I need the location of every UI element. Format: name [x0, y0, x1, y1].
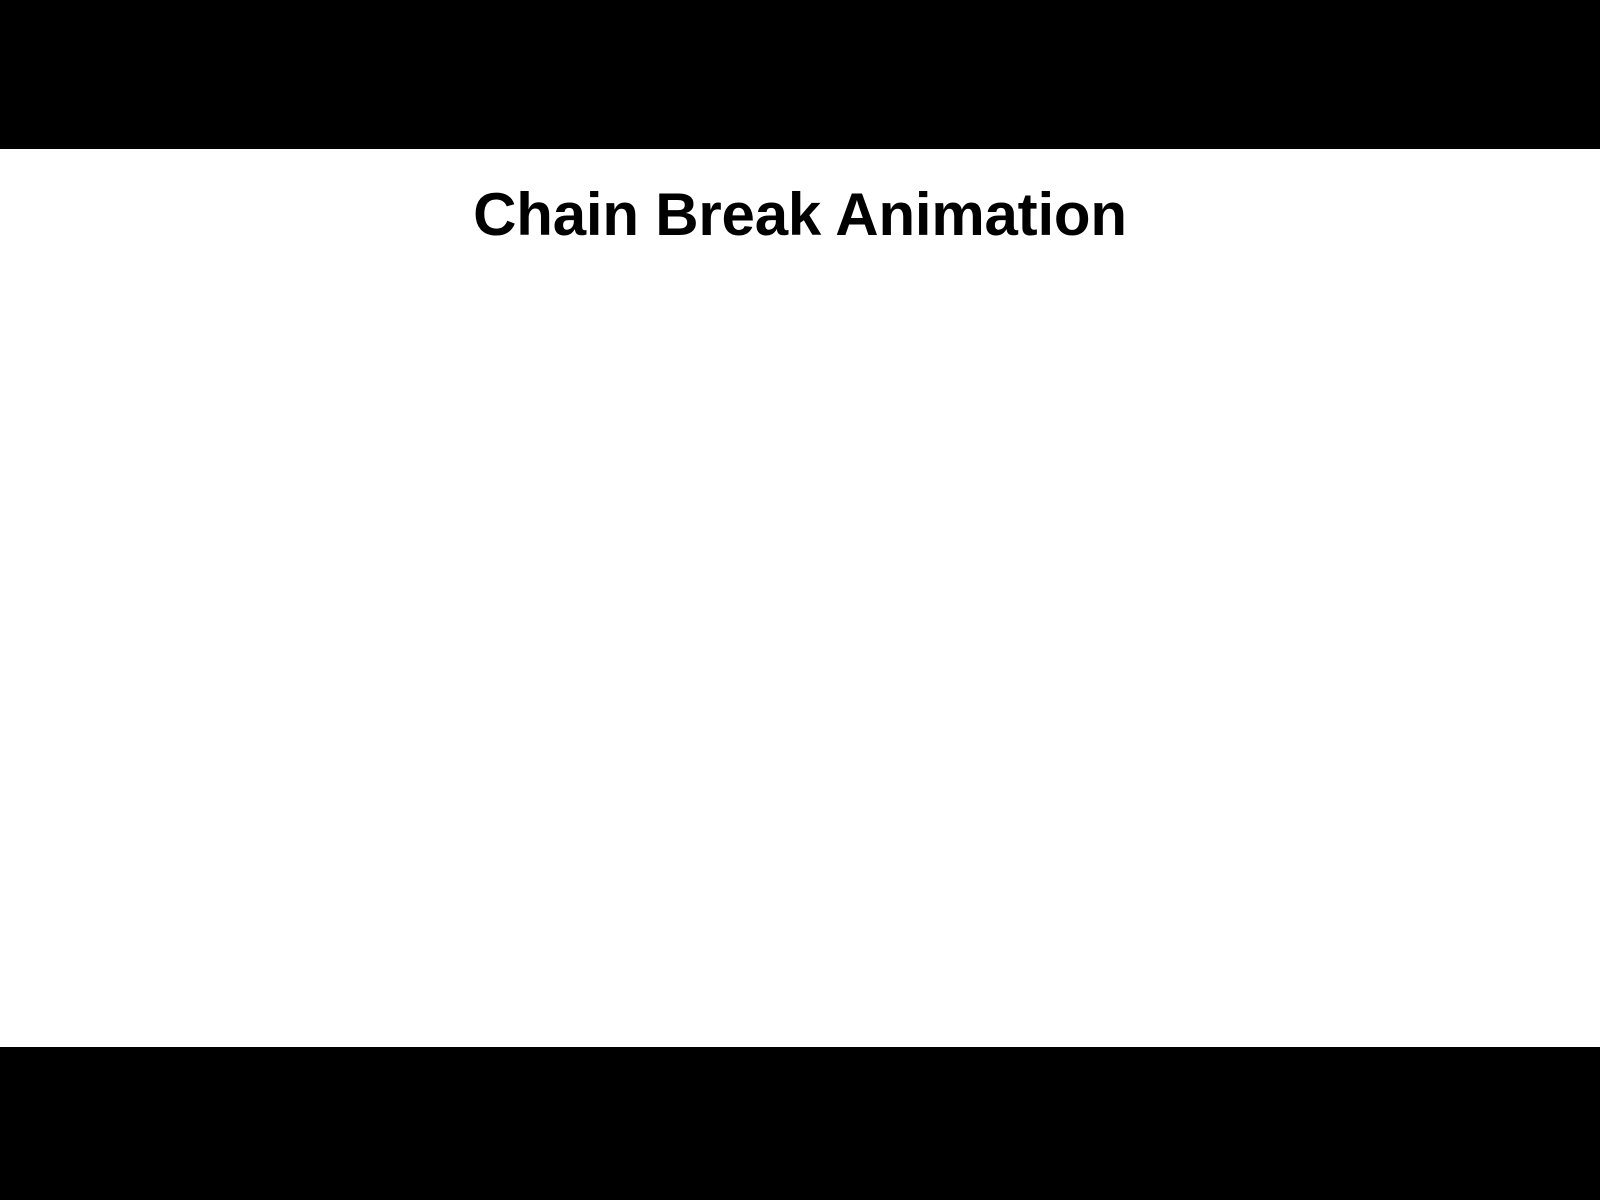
- slide-viewport: Chain Break Animation: [0, 0, 1600, 1200]
- letterbox-bottom-bar: [0, 1047, 1600, 1200]
- page-title: Chain Break Animation: [473, 183, 1127, 248]
- slide-content-placeholder[interactable]: [120, 299, 1480, 999]
- slide-canvas[interactable]: Chain Break Animation: [0, 149, 1600, 1047]
- slide-title-placeholder[interactable]: Chain Break Animation: [200, 183, 1400, 273]
- letterbox-top-bar: [0, 0, 1600, 149]
